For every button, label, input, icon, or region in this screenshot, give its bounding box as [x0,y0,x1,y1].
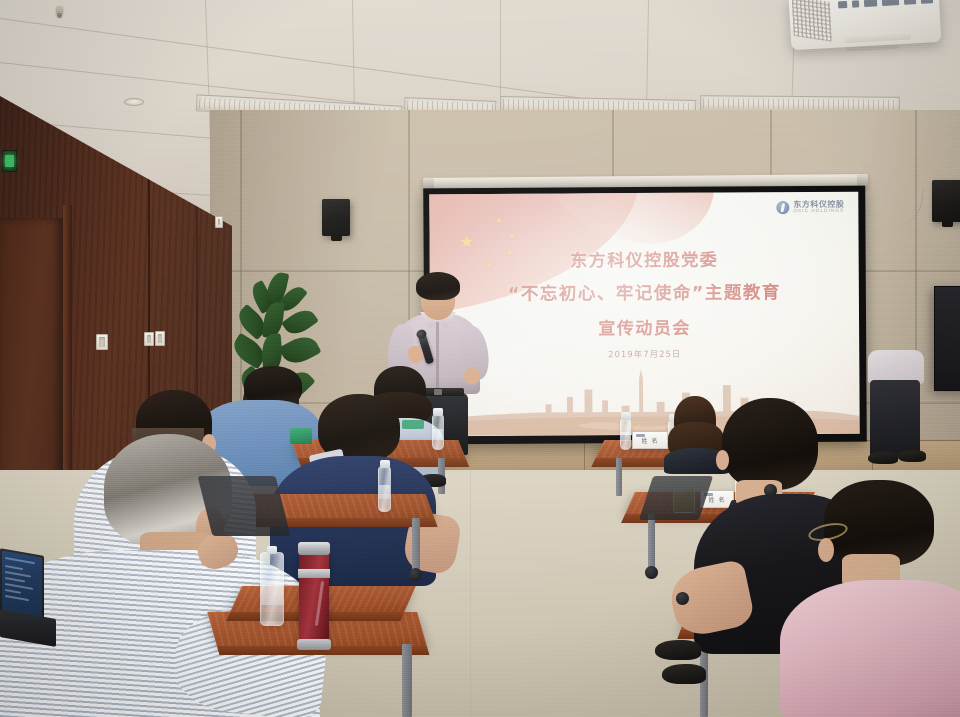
desk-leg [616,458,622,496]
attendee-standing-back-right [860,350,930,470]
attendee-shoe [868,452,898,464]
wall-speaker-right [932,180,960,222]
projector-lens-plate [845,31,911,43]
ceiling-projector [789,0,942,50]
flag-star-icon: ★ [496,218,502,225]
slide-title-line-2: “不忘初心、牢记使命”主题教育 [430,279,859,307]
wall-socket[interactable] [144,332,154,346]
osic-logo-mark-icon [776,201,789,214]
desk-caster [645,566,658,579]
attendee-shoe [898,450,926,462]
desk-leg [412,518,420,574]
attendee-shoe [655,640,701,660]
thermostat[interactable] [215,216,223,228]
flag-star-icon: ★ [509,233,515,240]
exit-sign [2,150,17,172]
attendee-shoe [662,664,706,684]
presenter-right-hand [464,368,480,384]
wall-speaker-left [322,199,350,236]
desk-leg [402,644,412,717]
desk-leg [648,514,655,572]
wall-display-panel[interactable] [934,286,960,391]
water-bottle [378,466,391,512]
slide-date: 2019年7月25日 [430,347,859,362]
attendee-ear [818,538,834,562]
chair-back [198,476,291,536]
attendee-shirt [868,350,924,384]
attendee-torso [780,580,960,717]
light-switch[interactable] [96,334,108,350]
attendee-trousers [870,380,920,458]
attendee-pink-shirt-front-right [800,480,960,717]
water-bottle [260,552,284,626]
desk-caster [409,568,422,581]
projector-port-panel [835,0,934,13]
presenter-hair [416,272,460,300]
wall-socket[interactable] [155,331,165,346]
presentation-photo-scene: ★ ★ ★ ★ ★ 东方科仪控股 OSIC HOLDINGS 东方科仪控股党委 … [0,0,960,717]
slide-title-line-3: 宣传动员会 [430,313,859,341]
attendee-ear [716,450,729,470]
desk-caster [676,592,689,605]
sprinkler-head [56,6,63,17]
water-bottle [620,418,631,450]
red-thermos [299,551,329,645]
desk-caster [764,484,777,497]
ceiling-downlight [124,98,144,106]
slide-title-line-1: 东方科仪控股党委 [430,245,859,273]
slide-title-block: 东方科仪控股党委 “不忘初心、牢记使命”主题教育 宣传动员会 2019年7月25… [430,245,860,362]
projector-vent-grill [792,0,833,42]
osic-logo-name-en: OSIC HOLDINGS [793,209,844,214]
attendee-hair [722,398,818,490]
osic-logo: 东方科仪控股 OSIC HOLDINGS [776,201,844,215]
